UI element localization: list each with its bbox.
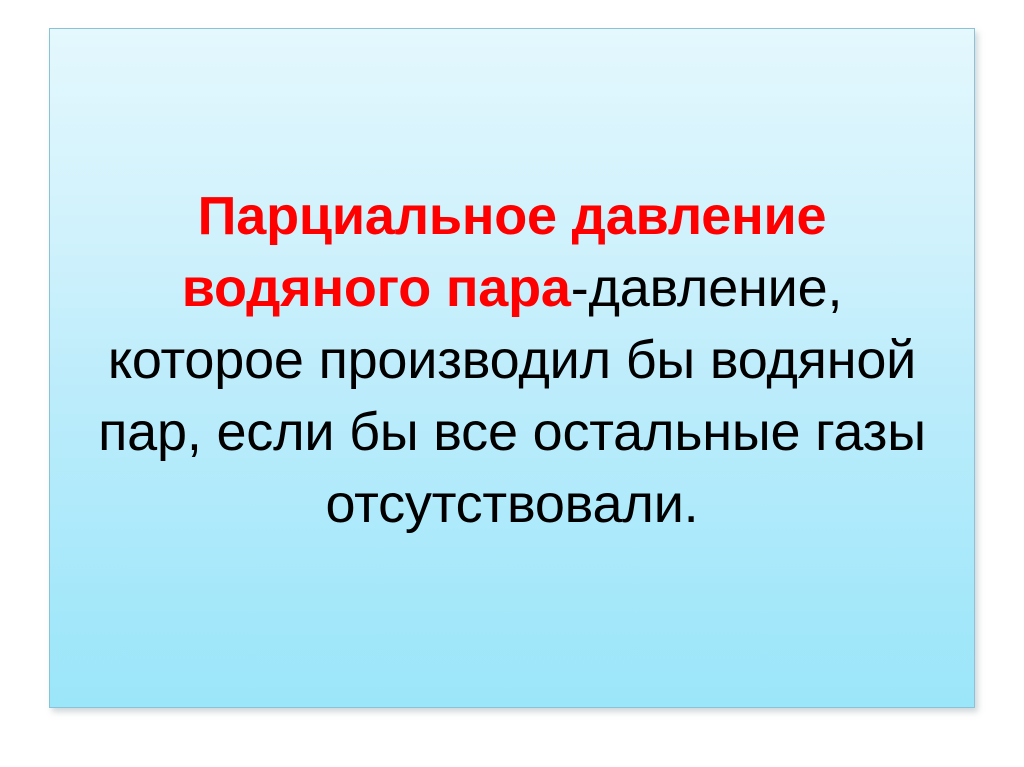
slide-canvas: Парциальное давление водяного пара-давле…: [0, 0, 1024, 767]
highlighted-term-part-2: водяного пара: [182, 258, 571, 318]
highlighted-term-part-1: Парциальное давление: [198, 186, 827, 246]
definition-line-4: пар, если бы все остальные газы: [64, 397, 960, 469]
definition-line-2-remainder: -давление,: [571, 258, 843, 318]
definition-line-5: отсутствовали.: [64, 469, 960, 541]
definition-line-3: которое производил бы водяной: [64, 325, 960, 397]
definition-line-1: Парциальное давление: [64, 181, 960, 253]
definition-text-block: Парциальное давление водяного пара-давле…: [50, 181, 974, 540]
slide-content-frame: Парциальное давление водяного пара-давле…: [49, 28, 975, 708]
definition-line-2: водяного пара-давление,: [64, 253, 960, 325]
